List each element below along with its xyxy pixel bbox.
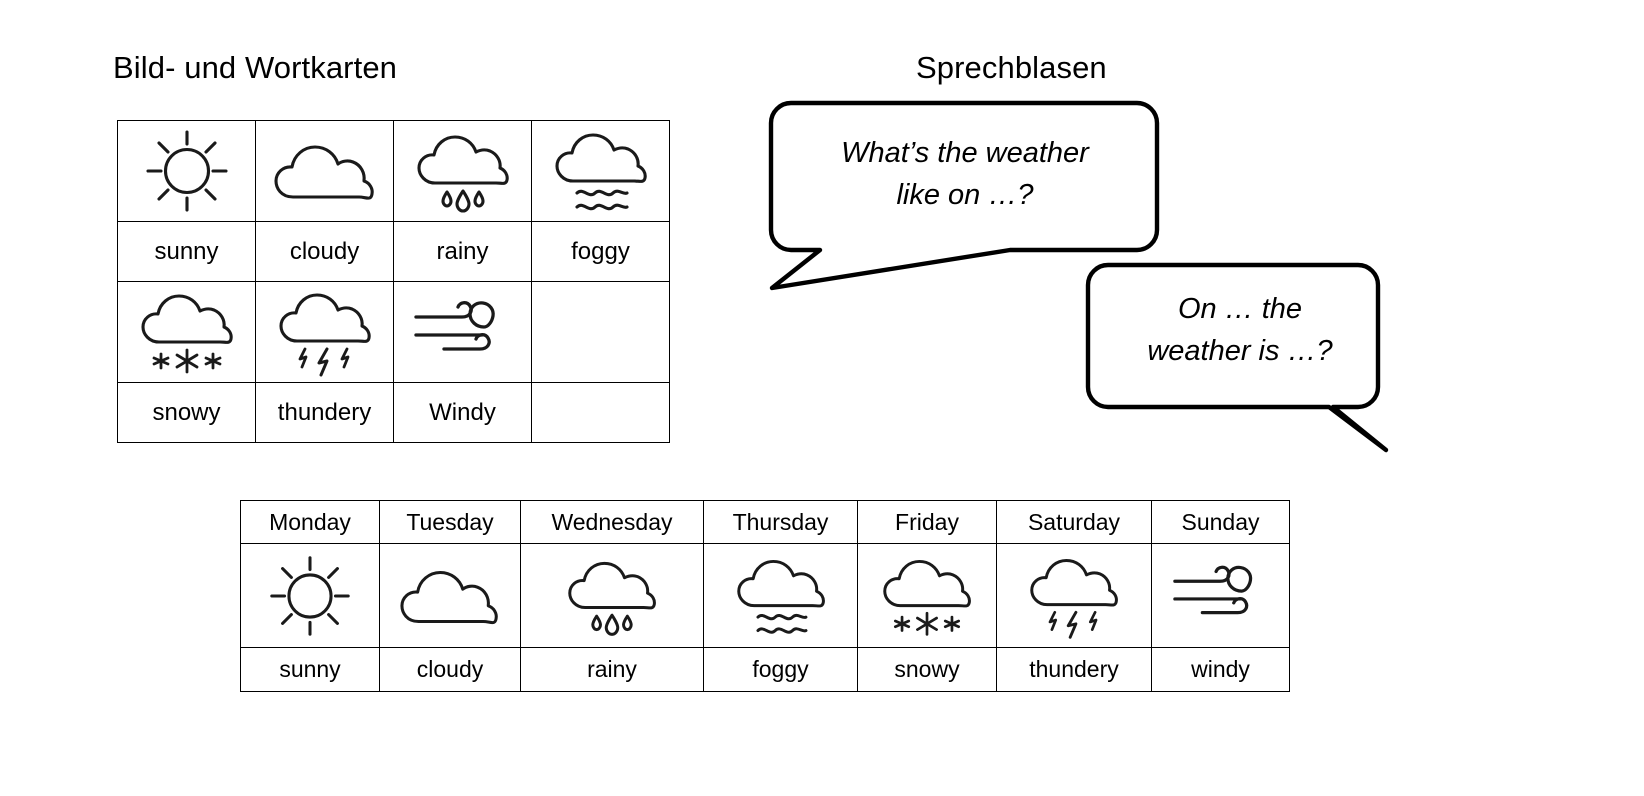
card-label-thundery[interactable]: thundery <box>256 383 394 443</box>
weekday-cell-tuesday-icon[interactable] <box>380 544 521 648</box>
picture-word-card-grid: sunny cloudy rainy foggy <box>117 120 670 443</box>
weekday-icon-row <box>241 544 1290 648</box>
weekday-label-saturday[interactable]: thundery <box>997 648 1152 692</box>
page-title-cards: Bild- und Wortkarten <box>113 50 397 86</box>
weekday-header-sunday[interactable]: Sunday <box>1152 501 1290 544</box>
weekday-cell-wednesday-icon[interactable] <box>521 544 704 648</box>
answer-bubble[interactable] <box>1083 260 1393 460</box>
weekday-label-tuesday[interactable]: cloudy <box>380 648 521 692</box>
fog-cloud-icon <box>532 127 669 215</box>
weekday-header-thursday[interactable]: Thursday <box>704 501 858 544</box>
wind-icon <box>1152 559 1289 633</box>
weekday-label-wednesday[interactable]: rainy <box>521 648 704 692</box>
rain-cloud-icon <box>394 126 531 216</box>
weekday-label-sunday[interactable]: windy <box>1152 648 1290 692</box>
weekday-header-monday[interactable]: Monday <box>241 501 380 544</box>
card-cell-foggy-picture[interactable] <box>532 121 670 222</box>
weekday-header-friday[interactable]: Friday <box>858 501 997 544</box>
weekday-cell-saturday-icon[interactable] <box>997 544 1152 648</box>
weekday-word-row: sunny cloudy rainy foggy snowy thundery … <box>241 648 1290 692</box>
rain-cloud-icon <box>521 552 703 640</box>
thunder-cloud-icon <box>997 552 1151 640</box>
card-label-cloudy[interactable]: cloudy <box>256 222 394 282</box>
wind-icon <box>394 295 531 369</box>
card-label-foggy[interactable]: foggy <box>532 222 670 282</box>
card-cell-thundery-picture[interactable] <box>256 282 394 383</box>
weekday-label-friday[interactable]: snowy <box>858 648 997 692</box>
card-label-empty[interactable] <box>532 383 670 443</box>
snow-cloud-icon <box>118 288 255 376</box>
weekday-weather-table: Monday Tuesday Wednesday Thursday Friday… <box>240 500 1290 692</box>
card-grid-picture-row <box>118 282 670 383</box>
card-cell-snowy-picture[interactable] <box>118 282 256 383</box>
card-label-windy[interactable]: Windy <box>394 383 532 443</box>
card-cell-sunny-picture[interactable] <box>118 121 256 222</box>
card-cell-windy-picture[interactable] <box>394 282 532 383</box>
cloud-icon <box>380 560 520 632</box>
fog-cloud-icon <box>704 553 857 639</box>
weekday-cell-monday-icon[interactable] <box>241 544 380 648</box>
card-label-snowy[interactable]: snowy <box>118 383 256 443</box>
weekday-cell-sunday-icon[interactable] <box>1152 544 1290 648</box>
snow-cloud-icon <box>858 553 996 639</box>
card-grid-picture-row <box>118 121 670 222</box>
thunder-cloud-icon <box>256 287 393 377</box>
page-title-bubbles: Sprechblasen <box>916 50 1107 86</box>
sun-icon <box>118 128 255 214</box>
card-cell-empty-picture[interactable] <box>532 282 670 383</box>
weekday-header-row: Monday Tuesday Wednesday Thursday Friday… <box>241 501 1290 544</box>
weekday-label-thursday[interactable]: foggy <box>704 648 858 692</box>
cloud-icon <box>256 135 393 207</box>
weekday-label-monday[interactable]: sunny <box>241 648 380 692</box>
card-grid-word-row: snowy thundery Windy <box>118 383 670 443</box>
card-label-sunny[interactable]: sunny <box>118 222 256 282</box>
card-cell-cloudy-picture[interactable] <box>256 121 394 222</box>
card-label-rainy[interactable]: rainy <box>394 222 532 282</box>
weekday-header-wednesday[interactable]: Wednesday <box>521 501 704 544</box>
weekday-header-saturday[interactable]: Saturday <box>997 501 1152 544</box>
card-grid-word-row: sunny cloudy rainy foggy <box>118 222 670 282</box>
sun-icon <box>241 550 379 642</box>
weekday-cell-thursday-icon[interactable] <box>704 544 858 648</box>
weekday-cell-friday-icon[interactable] <box>858 544 997 648</box>
card-cell-rainy-picture[interactable] <box>394 121 532 222</box>
weekday-header-tuesday[interactable]: Tuesday <box>380 501 521 544</box>
